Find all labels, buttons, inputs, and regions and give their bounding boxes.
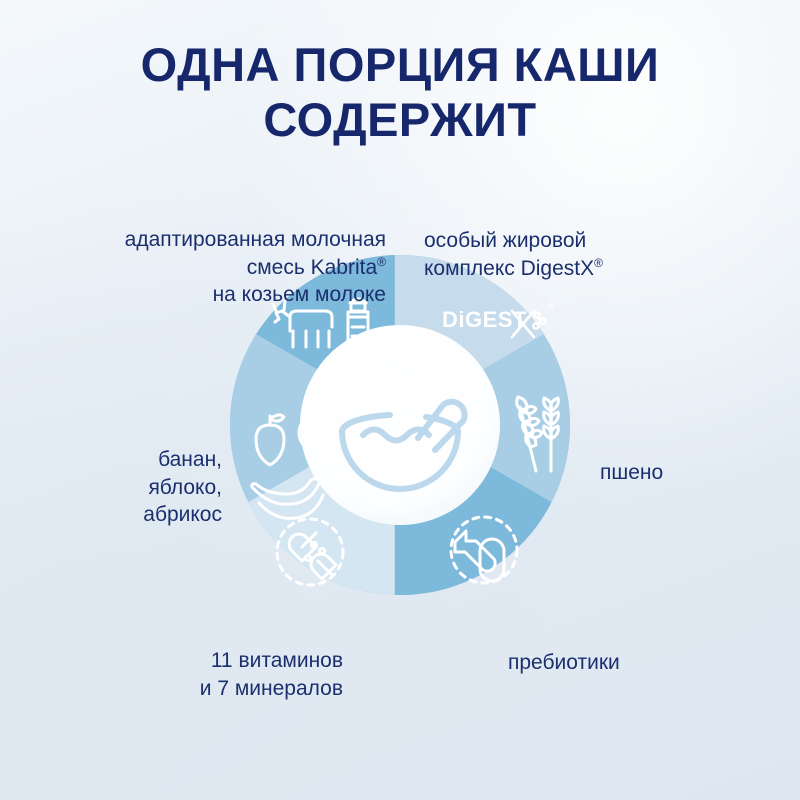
label-milk-text-tail: на козьем молоке	[213, 283, 386, 306]
label-millet: пшено	[600, 432, 780, 487]
label-prebiotics-text: пребиотики	[508, 651, 620, 674]
label-digestx-text: особый жировой комплекс DigestX	[424, 229, 594, 279]
digestx-logo-text: DiGEST	[442, 307, 527, 332]
label-fruit-text: банан, яблоко, абрикос	[143, 448, 222, 526]
label-milk-text: адаптированная молочная смесь Kabrita	[125, 228, 386, 278]
page-title: ОДНА ПОРЦИЯ КАШИ СОДЕРЖИТ	[0, 38, 800, 147]
label-prebiotics: пребиотики	[508, 622, 738, 677]
label-digestx-registered-mark: ®	[594, 256, 603, 270]
label-vitamins-text: 11 витаминов и 7 минералов	[200, 649, 343, 699]
label-millet-text: пшено	[600, 461, 663, 484]
label-vitamins: 11 витаминов и 7 минералов	[60, 620, 343, 702]
label-milk-registered-mark: ®	[377, 255, 386, 269]
label-milk: адаптированная молочная смесь Kabrita® н…	[14, 199, 386, 308]
digestx-logo-registered-mark: ®	[548, 301, 555, 311]
infographic-poster: ОДНА ПОРЦИЯ КАШИ СОДЕРЖИТ	[0, 0, 800, 800]
label-digestx: особый жировой комплекс DigestX®	[424, 200, 724, 282]
label-fruit: банан, яблоко, абрикос	[32, 419, 222, 528]
